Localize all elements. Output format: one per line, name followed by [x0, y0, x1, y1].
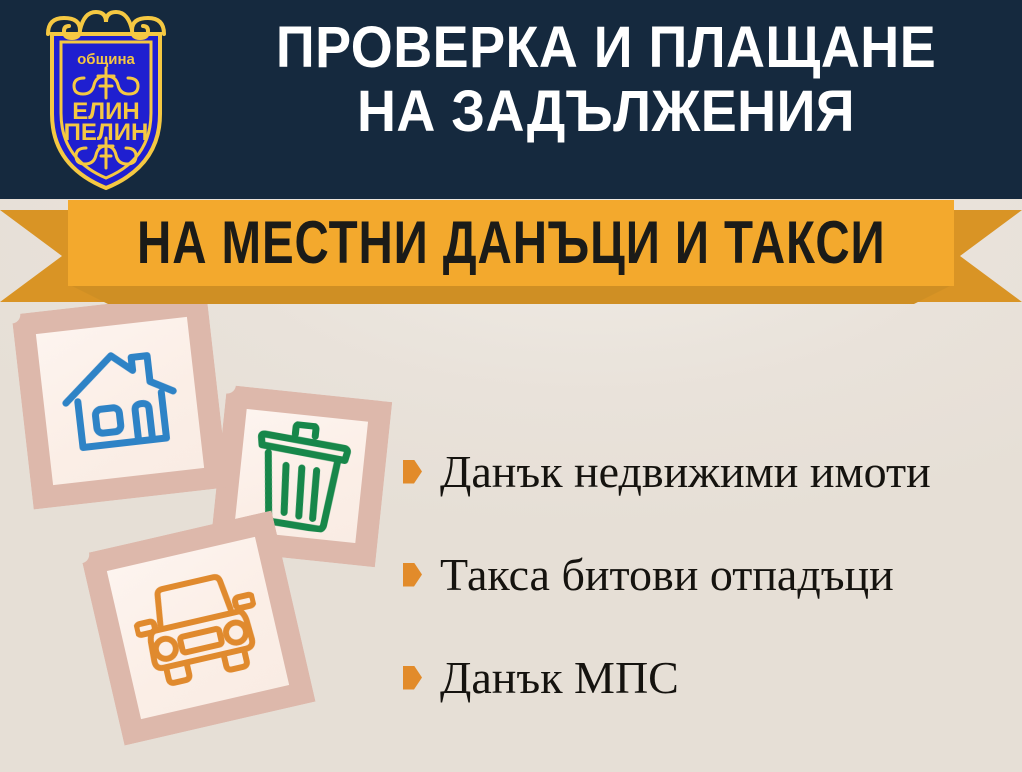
arrow-right-bullet-icon	[403, 563, 422, 587]
arrow-right-bullet-icon	[403, 460, 422, 484]
tax-types-list: Данък недвижими имоти Такса битови отпад…	[403, 420, 1013, 729]
car-front-icon	[126, 562, 271, 693]
header-band: община ЕЛИН ПЕЛИН ПРОВЕРКА И ПЛАЩАНЕ НА …	[0, 0, 1022, 199]
list-item-label: Данък МПС	[440, 653, 679, 703]
crest-label-pelin: ПЕЛИН	[64, 119, 149, 146]
stamp-inner-house	[36, 317, 204, 485]
poster-canvas: община ЕЛИН ПЕЛИН ПРОВЕРКА И ПЛАЩАНЕ НА …	[0, 0, 1022, 772]
ribbon-fold-shadow	[68, 284, 954, 304]
arrow-right-bullet-icon	[403, 666, 422, 690]
crest-label-obshtina: община	[77, 51, 135, 68]
list-item[interactable]: Такса битови отпадъци	[403, 523, 1013, 626]
list-item[interactable]: Данък недвижими имоти	[403, 420, 1013, 523]
list-item-label: Данък недвижими имоти	[440, 447, 931, 497]
page-title-line-2: НА ЗАДЪЛЖЕНИЯ	[219, 80, 993, 144]
page-title-line-1: ПРОВЕРКА И ПЛАЩАНЕ	[219, 16, 993, 80]
list-item[interactable]: Данък МПС	[403, 626, 1013, 729]
page-title: ПРОВЕРКА И ПЛАЩАНЕ НА ЗАДЪЛЖЕНИЯ	[190, 16, 1022, 144]
municipality-crest: община ЕЛИН ПЕЛИН	[28, 6, 184, 192]
house-icon	[54, 340, 186, 463]
subtitle-ribbon: НА МЕСТНИ ДАНЪЦИ И ТАКСИ	[0, 196, 1022, 304]
coat-of-arms-shield-icon: община ЕЛИН ПЕЛИН	[28, 6, 184, 192]
header-inner: община ЕЛИН ПЕЛИН ПРОВЕРКА И ПЛАЩАНЕ НА …	[0, 0, 1022, 199]
ribbon-subtitle-text: НА МЕСТНИ ДАНЪЦИ И ТАКСИ	[137, 212, 886, 275]
ribbon-band: НА МЕСТНИ ДАНЪЦИ И ТАКСИ	[68, 200, 954, 286]
list-item-label: Такса битови отпадъци	[440, 550, 894, 600]
stamp-card-house	[12, 293, 229, 510]
stamp-inner-car	[107, 537, 289, 719]
stamp-cards-group	[0, 290, 420, 760]
